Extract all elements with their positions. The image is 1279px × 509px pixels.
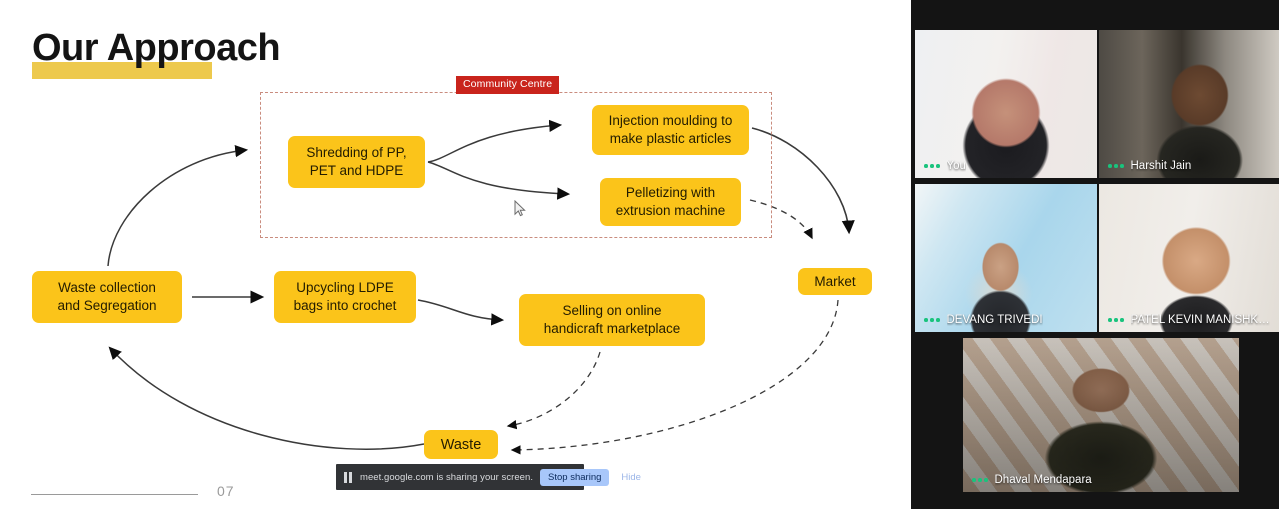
node-injection-line2: make plastic articles (609, 130, 733, 148)
node-shredding-line1: Shredding of PP, (306, 144, 406, 162)
pause-icon[interactable] (344, 472, 353, 483)
mic-activity-icon (1108, 318, 1124, 322)
participant-name: PATEL KEVIN MANISHK… (1131, 314, 1270, 326)
participant-name-row: PATEL KEVIN MANISHK… (1099, 309, 1279, 332)
page-title: Our Approach (32, 26, 280, 70)
node-shredding-line2: PET and HDPE (306, 162, 406, 180)
stop-sharing-button[interactable]: Stop sharing (540, 469, 609, 486)
node-pelletizing-line2: extrusion machine (616, 202, 726, 220)
title-text: Our Approach (32, 26, 280, 70)
mic-activity-icon (972, 478, 988, 482)
node-waste-collection-line2: and Segregation (57, 297, 156, 315)
share-message: meet.google.com is sharing your screen. (360, 472, 533, 483)
shared-slide: Our Approach Community Centre Shredding … (0, 0, 911, 509)
participant-tile-dhaval-mendapara[interactable]: Dhaval Mendapara (963, 338, 1239, 492)
node-upcycling-ldpe[interactable]: Upcycling LDPE bags into crochet (274, 271, 416, 323)
participant-name-row: You (915, 155, 975, 178)
page-number: 07 (217, 483, 235, 499)
node-upcycling-line2: bags into crochet (294, 297, 397, 315)
participant-tile-harshit-jain[interactable]: Harshit Jain (1099, 30, 1279, 178)
community-centre-label: Community Centre (456, 76, 559, 94)
node-selling-line2: handicraft marketplace (544, 320, 681, 338)
footer-rule (31, 494, 198, 495)
mic-activity-icon (924, 164, 940, 168)
screen-share-window: Our Approach Community Centre Shredding … (0, 0, 1279, 509)
mic-activity-icon (1108, 164, 1124, 168)
node-injection-moulding[interactable]: Injection moulding to make plastic artic… (592, 105, 749, 155)
participant-name-row: Dhaval Mendapara (963, 469, 1101, 492)
node-pelletizing[interactable]: Pelletizing with extrusion machine (600, 178, 741, 226)
participant-tile-patel-kevin[interactable]: PATEL KEVIN MANISHK… (1099, 184, 1279, 332)
participants-panel: You Harshit Jain DEVANG TRIVEDI PATEL KE… (911, 0, 1279, 509)
node-selling-online[interactable]: Selling on online handicraft marketplace (519, 294, 705, 346)
mouse-cursor-icon (514, 200, 528, 218)
participant-name: You (947, 160, 966, 172)
participant-name-row: DEVANG TRIVEDI (915, 309, 1052, 332)
node-waste[interactable]: Waste (424, 430, 498, 459)
participant-name: DEVANG TRIVEDI (947, 314, 1043, 326)
node-injection-line1: Injection moulding to (609, 112, 733, 130)
mic-activity-icon (924, 318, 940, 322)
node-upcycling-line1: Upcycling LDPE (294, 279, 397, 297)
participant-name: Harshit Jain (1131, 160, 1192, 172)
node-selling-line1: Selling on online (544, 302, 681, 320)
participant-name: Dhaval Mendapara (995, 474, 1092, 486)
participant-name-row: Harshit Jain (1099, 155, 1200, 178)
node-waste-collection[interactable]: Waste collection and Segregation (32, 271, 182, 323)
node-waste-collection-line1: Waste collection (57, 279, 156, 297)
participant-tile-you[interactable]: You (915, 30, 1097, 178)
hide-button[interactable]: Hide (616, 469, 646, 486)
participant-tile-devang-trivedi[interactable]: DEVANG TRIVEDI (915, 184, 1097, 332)
node-market[interactable]: Market (798, 268, 872, 295)
node-shredding[interactable]: Shredding of PP, PET and HDPE (288, 136, 425, 188)
node-pelletizing-line1: Pelletizing with (616, 184, 726, 202)
screen-share-bar: meet.google.com is sharing your screen. … (336, 464, 584, 490)
